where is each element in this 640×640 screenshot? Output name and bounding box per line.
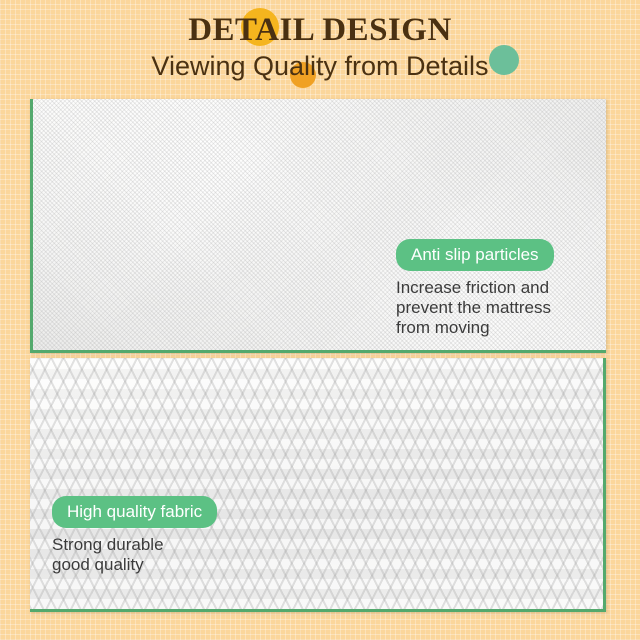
callout-anti-slip-particles: Anti slip particles Increase friction an… xyxy=(396,239,596,338)
page-title: DETAIL DESIGN xyxy=(0,11,640,49)
callout-label-high-quality-fabric: High quality fabric xyxy=(52,496,217,528)
header: DETAIL DESIGN Viewing Quality from Detai… xyxy=(0,0,640,92)
callout-high-quality-fabric: High quality fabric Strong durable good … xyxy=(52,496,282,575)
callout-description-anti-slip-particles: Increase friction and prevent the mattre… xyxy=(396,278,596,338)
callout-description-high-quality-fabric: Strong durable good quality xyxy=(52,535,282,575)
callout-label-anti-slip-particles: Anti slip particles xyxy=(396,239,554,271)
page-subtitle: Viewing Quality from Details xyxy=(0,50,640,82)
detail-design-page: DETAIL DESIGN Viewing Quality from Detai… xyxy=(0,0,640,640)
